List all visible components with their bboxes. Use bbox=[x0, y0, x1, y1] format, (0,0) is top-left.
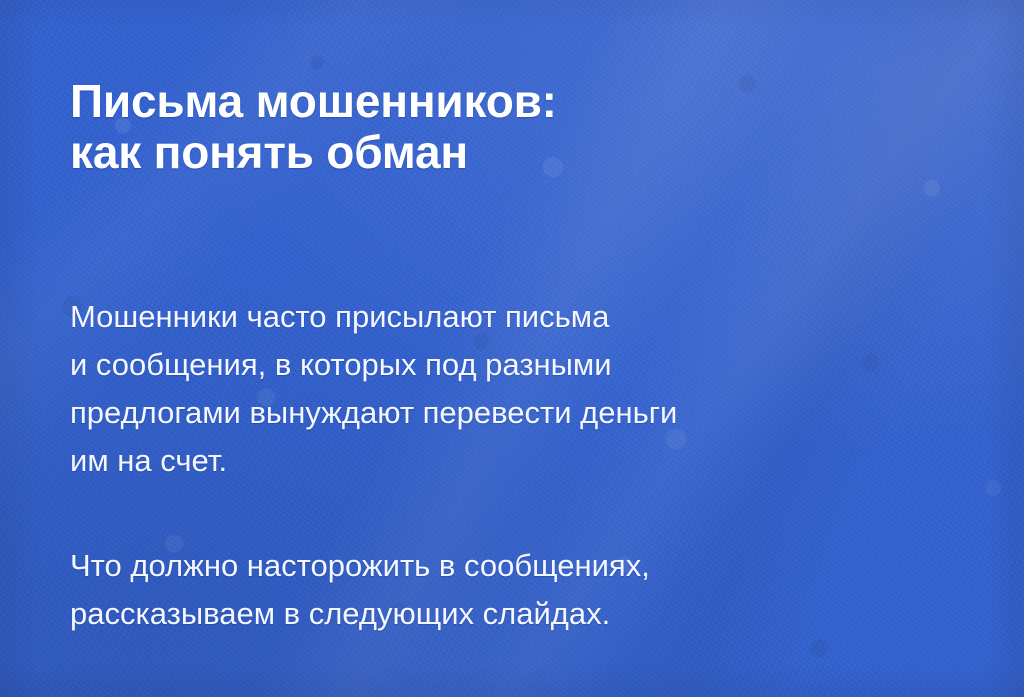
body-paragraph-1: Мошенники часто присылают письма и сообщ… bbox=[70, 293, 950, 485]
body-paragraph-2: Что должно насторожить в сообщениях, рас… bbox=[70, 542, 950, 638]
slide-body: Мошенники часто присылают письма и сообщ… bbox=[70, 293, 950, 638]
slide-content: Письма мошенников: как понять обман Моше… bbox=[70, 0, 984, 697]
slide-canvas: Письма мошенников: как понять обман Моше… bbox=[0, 0, 1024, 697]
slide-title: Письма мошенников: как понять обман bbox=[70, 76, 557, 178]
